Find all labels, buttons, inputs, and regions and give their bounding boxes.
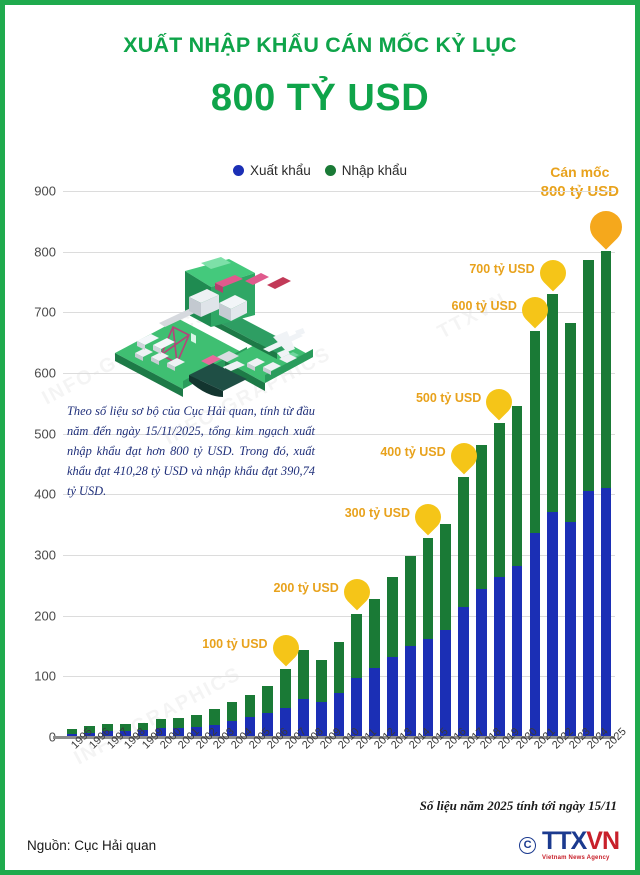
bar-2020[interactable] bbox=[512, 406, 523, 737]
milestone-pin-400[interactable]: 400 tỷ USD bbox=[451, 443, 477, 469]
map-pin-icon bbox=[481, 384, 518, 421]
bar-segment-import bbox=[458, 477, 469, 606]
y-axis-tick-label: 600 bbox=[34, 366, 56, 381]
legend-label-export: Xuất khẩu bbox=[250, 163, 311, 178]
milestone-label-600: 600 tỷ USD bbox=[452, 299, 517, 313]
logo-subtitle: Vietnam News Agency bbox=[542, 855, 619, 861]
chart-footnote: Số liệu năm 2025 tính tới ngày 15/11 bbox=[420, 798, 617, 814]
milestone-label-100: 100 tỷ USD bbox=[202, 637, 267, 651]
bar-segment-import bbox=[565, 323, 576, 522]
bar-2021[interactable] bbox=[530, 331, 541, 737]
bar-2012[interactable] bbox=[369, 599, 380, 738]
bar-2025[interactable] bbox=[601, 251, 612, 737]
bar-segment-export bbox=[405, 646, 416, 737]
y-axis-tick-label: 900 bbox=[34, 184, 56, 199]
bar-segment-export bbox=[494, 577, 505, 737]
bar-segment-export bbox=[547, 512, 558, 737]
milestone-pin-300[interactable]: 300 tỷ USD bbox=[415, 504, 441, 530]
bar-segment-import bbox=[316, 660, 327, 702]
final-milestone-line1: Cán mốc bbox=[541, 163, 619, 182]
legend-swatch-export bbox=[233, 165, 244, 176]
bar-segment-import bbox=[262, 686, 273, 713]
bar-segment-export bbox=[583, 491, 594, 737]
bar-2023[interactable] bbox=[565, 323, 576, 737]
bar-2017[interactable] bbox=[458, 477, 469, 737]
source-label: Nguồn: Cục Hải quan bbox=[27, 838, 156, 853]
bar-segment-import bbox=[547, 294, 558, 512]
bar-segment-import bbox=[334, 642, 345, 693]
bar-2014[interactable] bbox=[405, 556, 416, 737]
legend-item-export: Xuất khẩu bbox=[233, 163, 311, 178]
page-title-line1: XUẤT NHẬP KHẨU CÁN MỐC KỶ LỤC bbox=[5, 33, 635, 58]
milestone-label-400: 400 tỷ USD bbox=[380, 445, 445, 459]
bar-segment-import bbox=[601, 251, 612, 488]
y-axis-tick-label: 300 bbox=[34, 548, 56, 563]
bar-segment-import bbox=[280, 669, 291, 707]
bar-segment-import bbox=[369, 599, 380, 668]
summary-note: Theo số liệu sơ bộ của Cục Hải quan, tín… bbox=[67, 401, 315, 501]
bar-segment-import bbox=[440, 524, 451, 630]
page-title-line2: 800 TỶ USD bbox=[5, 77, 635, 120]
map-pin-icon bbox=[267, 630, 304, 667]
y-axis-tick-label: 400 bbox=[34, 487, 56, 502]
bar-segment-import bbox=[423, 538, 434, 638]
legend-item-import: Nhập khẩu bbox=[325, 163, 407, 178]
milestone-pin-500[interactable]: 500 tỷ USD bbox=[486, 389, 512, 415]
bar-segment-import bbox=[494, 423, 505, 577]
isometric-port-logistics-illustration bbox=[97, 257, 319, 399]
bar-2019[interactable] bbox=[494, 423, 505, 737]
logo-text: TTXVN Vietnam News Agency bbox=[542, 829, 619, 861]
bar-segment-import bbox=[530, 331, 541, 533]
bar-2008[interactable] bbox=[298, 650, 309, 737]
bar-2015[interactable] bbox=[423, 538, 434, 737]
bar-segment-import bbox=[298, 650, 309, 699]
bar-segment-export bbox=[530, 533, 541, 737]
bar-segment-import bbox=[209, 709, 220, 724]
y-axis-tick-label: 100 bbox=[34, 669, 56, 684]
milestone-label-300: 300 tỷ USD bbox=[345, 506, 410, 520]
bar-segment-import bbox=[351, 614, 362, 679]
bar-2010[interactable] bbox=[334, 642, 345, 737]
milestone-label-700: 700 tỷ USD bbox=[469, 262, 534, 276]
bar-segment-export bbox=[458, 607, 469, 737]
milestone-pin-600[interactable]: 600 tỷ USD bbox=[522, 297, 548, 323]
y-axis-tick-label: 500 bbox=[34, 426, 56, 441]
y-axis-tick-label: 800 bbox=[34, 244, 56, 259]
legend-label-import: Nhập khẩu bbox=[342, 163, 407, 178]
milestone-pin-700[interactable]: 700 tỷ USD bbox=[540, 260, 566, 286]
bar-2016[interactable] bbox=[440, 524, 451, 737]
bar-segment-import bbox=[227, 702, 238, 721]
gridline bbox=[63, 252, 615, 253]
bar-2011[interactable] bbox=[351, 613, 362, 737]
milestone-label-500: 500 tỷ USD bbox=[416, 391, 481, 405]
bar-segment-export bbox=[440, 630, 451, 737]
logo-main-part1: TTX bbox=[542, 827, 586, 855]
milestone-pin-800[interactable] bbox=[590, 211, 622, 243]
map-pin-icon bbox=[516, 292, 553, 329]
map-pin-icon bbox=[583, 204, 628, 249]
bar-segment-import bbox=[583, 260, 594, 491]
bar-segment-export bbox=[423, 639, 434, 737]
y-axis-tick-label: 700 bbox=[34, 305, 56, 320]
bar-segment-import bbox=[387, 577, 398, 657]
copyright-icon: C bbox=[519, 837, 536, 854]
milestone-pin-200[interactable]: 200 tỷ USD bbox=[344, 579, 370, 605]
milestone-pin-100[interactable]: 100 tỷ USD bbox=[273, 635, 299, 661]
bar-2013[interactable] bbox=[387, 577, 398, 737]
map-pin-icon bbox=[445, 438, 482, 475]
bar-2022[interactable] bbox=[547, 294, 558, 737]
bar-2018[interactable] bbox=[476, 445, 487, 737]
ttxvn-logo: C TTXVN Vietnam News Agency bbox=[519, 829, 619, 861]
bar-segment-import bbox=[405, 556, 416, 646]
map-pin-icon bbox=[338, 574, 375, 611]
legend-swatch-import bbox=[325, 165, 336, 176]
map-pin-icon bbox=[534, 254, 571, 291]
logo-main: TTXVN bbox=[542, 829, 619, 854]
infographic-page: INFO-GRAPHICS INFO-GRAPHICS INFO-GRAPHIC… bbox=[0, 0, 640, 875]
bar-segment-import bbox=[512, 406, 523, 565]
bar-segment-export bbox=[601, 488, 612, 737]
y-axis-tick-label: 200 bbox=[34, 608, 56, 623]
bar-2024[interactable] bbox=[583, 260, 594, 737]
bar-segment-import bbox=[245, 695, 256, 717]
logo-main-part2: VN bbox=[586, 827, 619, 855]
map-pin-icon bbox=[410, 499, 447, 536]
bar-segment-import bbox=[476, 445, 487, 589]
bar-segment-export bbox=[476, 589, 487, 737]
bar-segment-export bbox=[565, 522, 576, 737]
milestone-label-200: 200 tỷ USD bbox=[273, 581, 338, 595]
bar-segment-export bbox=[512, 566, 523, 738]
gridline bbox=[63, 191, 615, 192]
